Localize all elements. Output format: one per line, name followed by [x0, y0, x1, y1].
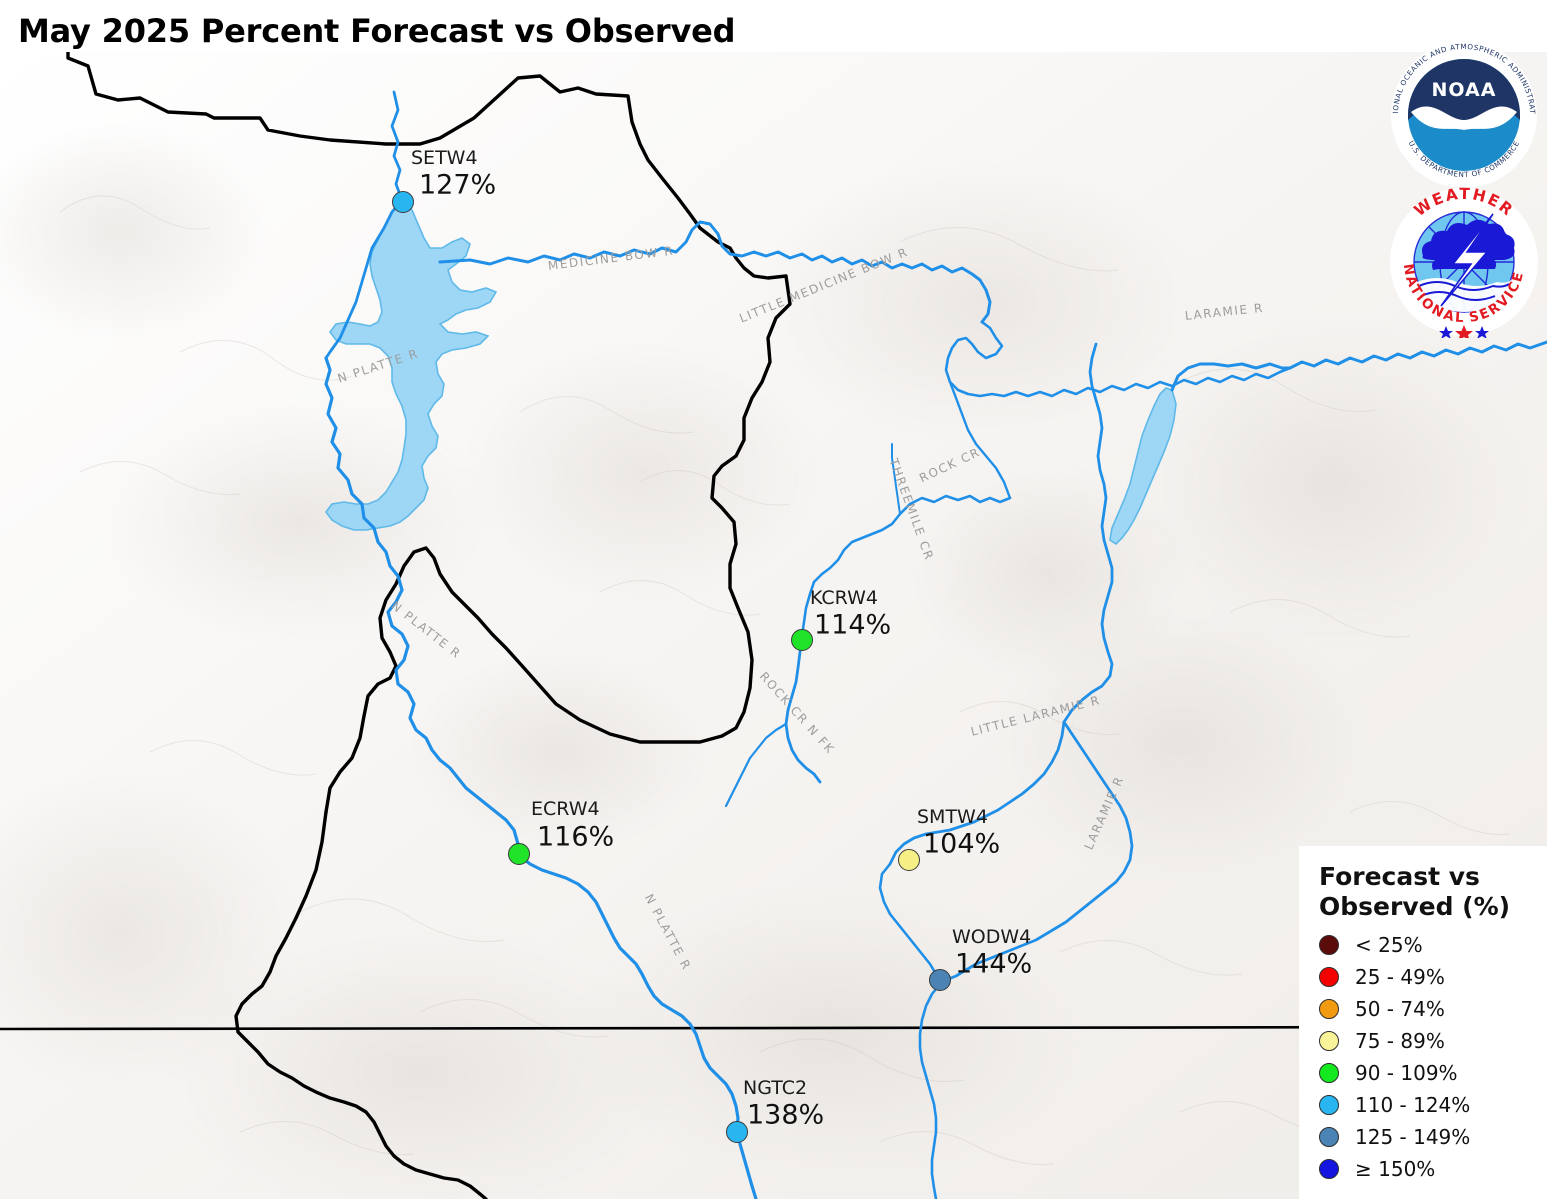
legend-item-label: 90 - 109%: [1355, 1061, 1458, 1085]
station-id-label: NGTC2: [743, 1077, 807, 1099]
legend-item-label: 25 - 49%: [1355, 965, 1445, 989]
nws-logo: WEATHER NATIONAL SERVICE: [1389, 186, 1539, 338]
noaa-logo: NOAA NATIONAL OCEANIC AND ATMOSPHERIC AD…: [1389, 40, 1539, 190]
legend-item[interactable]: 50 - 74%: [1319, 993, 1537, 1025]
legend-item[interactable]: 25 - 49%: [1319, 961, 1537, 993]
legend-title-line1: Forecast vs: [1319, 862, 1537, 892]
noaa-acronym: NOAA: [1432, 79, 1497, 101]
map-page: May 2025 Percent Forecast vs Observed: [0, 0, 1547, 1199]
station-dot-icon[interactable]: [508, 843, 530, 865]
station-value-label: 138%: [747, 1100, 824, 1131]
legend-item-label: 110 - 124%: [1355, 1093, 1470, 1117]
legend-swatch-icon: [1319, 1159, 1339, 1179]
legend-item[interactable]: < 25%: [1319, 929, 1537, 961]
legend-swatch-icon: [1319, 1095, 1339, 1115]
station-id-label: ECRW4: [531, 798, 600, 820]
station-value-label: 127%: [419, 170, 496, 201]
station-id-label: WODW4: [952, 926, 1031, 948]
station-dot-icon[interactable]: [392, 191, 414, 213]
station-dot-icon[interactable]: [929, 969, 951, 991]
legend-swatch-icon: [1319, 967, 1339, 987]
legend-panel: Forecast vs Observed (%) < 25%25 - 49%50…: [1299, 846, 1547, 1199]
station-id-label: SETW4: [411, 147, 478, 169]
legend-title: Forecast vs Observed (%): [1319, 862, 1537, 921]
station-dot-icon[interactable]: [791, 629, 813, 651]
legend-swatch-icon: [1319, 1063, 1339, 1083]
legend-swatch-icon: [1319, 935, 1339, 955]
page-title: May 2025 Percent Forecast vs Observed: [18, 12, 735, 50]
station-id-label: SMTW4: [917, 806, 988, 828]
station-dot-icon[interactable]: [726, 1121, 748, 1143]
legend-rows: < 25%25 - 49%50 - 74%75 - 89%90 - 109%11…: [1319, 929, 1537, 1185]
legend-title-line2: Observed (%): [1319, 892, 1537, 922]
legend-item[interactable]: 125 - 149%: [1319, 1121, 1537, 1153]
station-value-label: 116%: [537, 822, 614, 853]
legend-item-label: 75 - 89%: [1355, 1029, 1445, 1053]
legend-swatch-icon: [1319, 1031, 1339, 1051]
legend-item[interactable]: 110 - 124%: [1319, 1089, 1537, 1121]
station-value-label: 144%: [955, 949, 1032, 980]
legend-item[interactable]: 90 - 109%: [1319, 1057, 1537, 1089]
station-dot-icon[interactable]: [898, 849, 920, 871]
legend-item-label: 50 - 74%: [1355, 997, 1445, 1021]
legend-swatch-icon: [1319, 999, 1339, 1019]
station-value-label: 104%: [923, 829, 1000, 860]
legend-swatch-icon: [1319, 1127, 1339, 1147]
legend-item-label: 125 - 149%: [1355, 1125, 1470, 1149]
legend-item-label: ≥ 150%: [1355, 1157, 1435, 1181]
station-id-label: KCRW4: [810, 587, 878, 609]
station-value-label: 114%: [814, 610, 891, 641]
legend-item-label: < 25%: [1355, 933, 1423, 957]
legend-item[interactable]: ≥ 150%: [1319, 1153, 1537, 1185]
logo-stack: NOAA NATIONAL OCEANIC AND ATMOSPHERIC AD…: [1389, 40, 1539, 338]
legend-item[interactable]: 75 - 89%: [1319, 1025, 1537, 1057]
